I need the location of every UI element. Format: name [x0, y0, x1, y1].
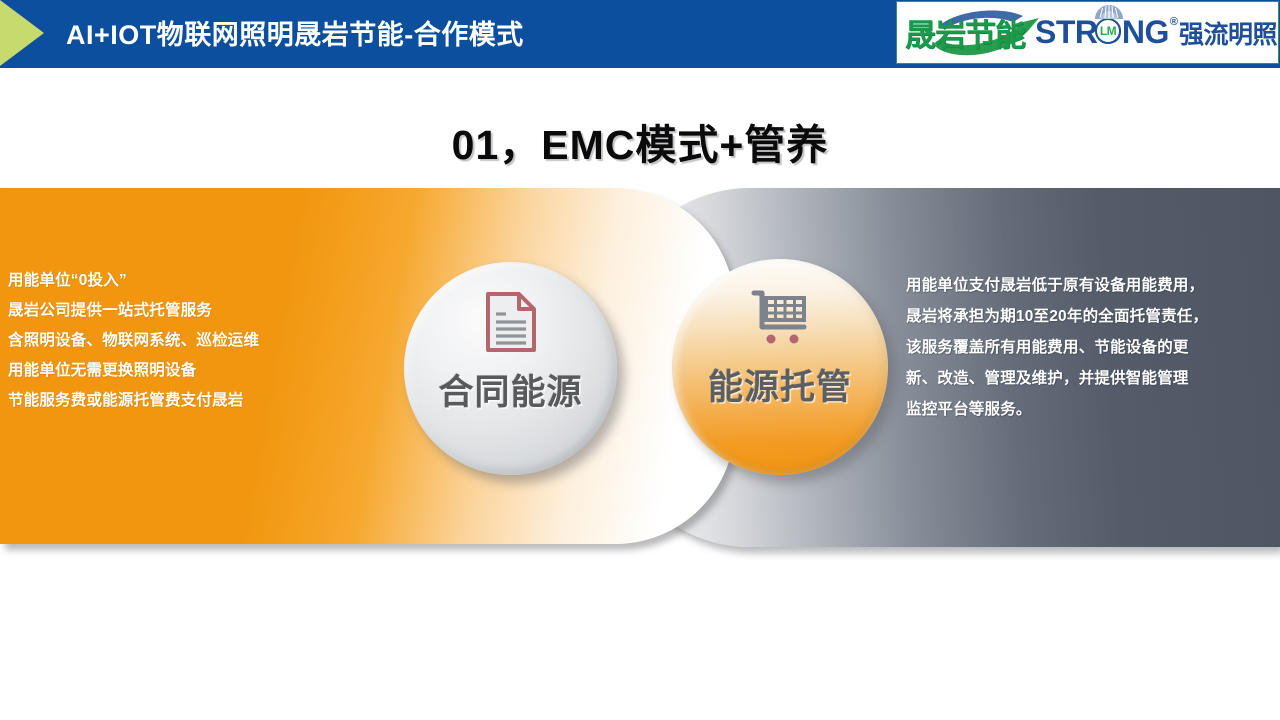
left-text-line: 含照明设备、物联网系统、巡检运维 [8, 326, 338, 356]
header-title: AI+IOT物联网照明晟岩节能-合作模式 [66, 13, 524, 52]
right-text-line: 新、改造、管理及维护，并提供智能管理 [906, 363, 1278, 394]
logo-brand-cn-secondary: 强流明照明 [1179, 15, 1279, 51]
right-text-line: 用能单位支付晟岩低于原有设备用能费用， [906, 270, 1278, 301]
chevron-accent-icon [0, 0, 44, 66]
circle-trust-label: 能源托管 [708, 359, 852, 410]
circle-energy-trusteeship[interactable]: 能源托管 [672, 259, 888, 475]
left-text-line: 晟岩公司提供一站式托管服务 [8, 296, 338, 326]
registered-trademark-icon: ® [1170, 16, 1178, 28]
right-panel-text: 用能单位支付晟岩低于原有设备用能费用， 晟岩将承担为期10至20年的全面托管责任… [906, 270, 1278, 425]
circle-contract-label: 合同能源 [438, 364, 582, 415]
left-panel-text: 用能单位“0投入” 晟岩公司提供一站式托管服务 含照明设备、物联网系统、巡检运维… [8, 266, 338, 416]
circle-contract-energy[interactable]: 合同能源 [404, 262, 617, 475]
page-title: 01，EMC模式+管养 [0, 111, 1280, 171]
circle-trust-icon-wrap [749, 279, 811, 355]
right-text-line: 晟岩将承担为期10至20年的全面托管责任， [906, 301, 1278, 332]
circle-contract-icon-wrap [484, 284, 538, 360]
left-text-line: 用能单位无需更换照明设备 [8, 356, 338, 386]
left-text-line: 用能单位“0投入” [8, 266, 338, 296]
document-icon [484, 291, 538, 353]
logo-lm-badge: LM [1095, 18, 1121, 44]
slide-canvas: AI+IOT物联网照明晟岩节能-合作模式 晟岩节能 STRONG [0, 0, 1280, 720]
right-text-line: 该服务覆盖所有用能费用、节能设备的更 [906, 332, 1278, 363]
cart-wheel-left-icon [767, 335, 776, 344]
company-logo: 晟岩节能 STRONG LM ® 强流明照明 [896, 1, 1279, 64]
shopping-cart-icon [749, 287, 811, 347]
cart-wheel-right-icon [790, 335, 799, 344]
logo-brand-en: STRONG LM [1035, 14, 1169, 51]
left-text-line: 节能服务费或能源托管费支付晟岩 [8, 386, 338, 416]
logo-fan-icon [1093, 3, 1125, 19]
logo-strong-wrap: STRONG LM ® 强流明照明 [1035, 14, 1279, 51]
right-text-line: 监控平台等服务。 [906, 394, 1278, 425]
logo-brand-cn: 晟岩节能 [905, 10, 1025, 55]
